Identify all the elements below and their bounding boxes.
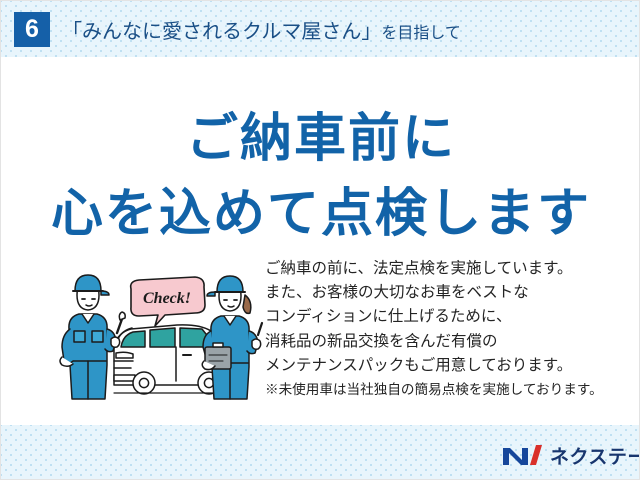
body-line: ご納車の前に、法定点検を実施しています。 [265,257,615,281]
header-title: 「みんなに愛されるクルマ屋さん」を目指して [62,15,461,44]
brand-logo: ネクステージ [501,442,640,468]
check-bubble-label: Check! [143,290,191,307]
promo-panel: 6 「みんなに愛されるクルマ屋さん」を目指して ご納車前に 心を込めて点検します… [0,0,640,480]
brand-wordmark: ネクステージ [550,442,640,469]
hero-heading-line-1: ご納車前に [1,96,640,171]
body-copy: ご納車の前に、法定点検を実施しています。 また、お客様の大切なお車をベストな コ… [265,257,615,401]
body-line: また、お客様の大切なお車をベストな [265,281,615,305]
header-title-main: 「みんなに愛されるクルマ屋さん」 [62,21,381,43]
body-line: メンテナンスパックもご用意しております。 [265,354,615,378]
body-line: 消耗品の新品交換を含んだ有償の [265,330,615,354]
step-number-badge: 6 [14,12,50,47]
body-line: コンディションに仕上げるために、 [265,305,615,329]
nexstage-n-mark [501,443,543,467]
mechanics-illustration: Check! [59,269,264,401]
body-footnote: ※未使用車は当社独自の簡易点検を実施しております。 [265,379,615,401]
header-title-sub: を目指して [381,25,461,42]
hero-heading-line-2: 心を込めて点検します [1,171,640,246]
